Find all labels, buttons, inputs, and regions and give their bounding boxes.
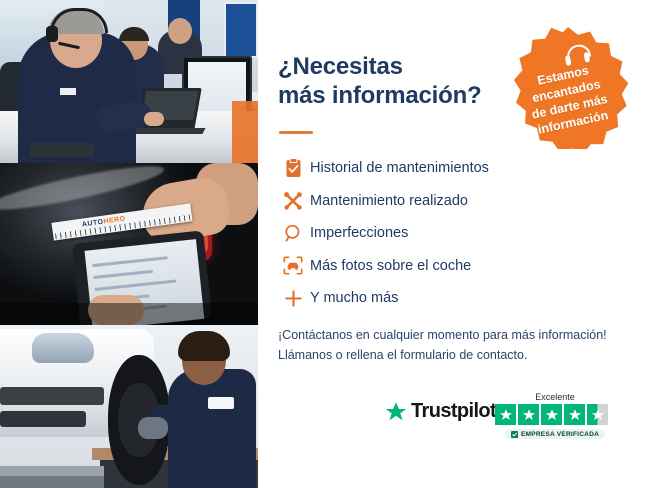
promo-card: AUTOHERO bbox=[0, 0, 650, 488]
car-scan-icon bbox=[276, 254, 310, 278]
title-divider bbox=[279, 131, 313, 134]
car-lift-base bbox=[0, 476, 104, 488]
car-grille-upper bbox=[0, 387, 104, 405]
verified-check-icon bbox=[511, 431, 518, 438]
headset-earcup-icon bbox=[46, 26, 58, 42]
page-title: ¿Necesitas más información? bbox=[278, 52, 508, 111]
tools-cross-icon bbox=[276, 189, 310, 213]
mechanic-hair bbox=[178, 331, 230, 361]
magnifier-icon bbox=[276, 221, 310, 245]
orange-chair bbox=[232, 101, 258, 163]
contact-line2: Llámanos o rellena el formulario de cont… bbox=[278, 345, 628, 365]
feature-label: Historial de mantenimientos bbox=[310, 160, 489, 176]
name-badge bbox=[60, 88, 76, 95]
contact-line1: ¡Contáctanos en cualquier momento para m… bbox=[278, 325, 628, 345]
page-title-line1: ¿Necesitas bbox=[278, 52, 508, 81]
car-headlight bbox=[32, 333, 94, 363]
clipboard-check-icon bbox=[276, 156, 310, 180]
feature-list: Historial de mantenimientos M bbox=[276, 152, 606, 315]
plus-icon bbox=[276, 286, 310, 310]
trustpilot-wordmark: Trustpilot bbox=[411, 400, 496, 423]
wall-poster-blue bbox=[224, 2, 258, 58]
contact-text: ¡Contáctanos en cualquier momento para m… bbox=[278, 325, 628, 366]
agent-hand bbox=[144, 112, 164, 126]
feature-label: Mantenimiento realizado bbox=[310, 193, 468, 209]
car-grille-lower bbox=[0, 411, 86, 427]
photo-column: AUTOHERO bbox=[0, 0, 258, 488]
feature-label: Y mucho más bbox=[310, 290, 398, 306]
agent-back-head bbox=[168, 18, 192, 44]
photo-shadow bbox=[0, 303, 258, 325]
mechanic-wheel-inspection-photo bbox=[0, 325, 258, 488]
verified-company-badge: EMPRESA VERIFICADA bbox=[505, 429, 605, 439]
rating-label: Excelente bbox=[495, 392, 615, 402]
feature-item-fotos: Más fotos sobre el coche bbox=[276, 250, 606, 283]
trustpilot-logo: Trustpilot bbox=[385, 400, 496, 423]
star-rating bbox=[495, 404, 615, 425]
uniform-logo-patch bbox=[208, 397, 234, 409]
trustpilot-widget[interactable]: Trustpilot Excelente bbox=[385, 392, 625, 450]
star-3 bbox=[541, 404, 562, 425]
feature-item-historial: Historial de mantenimientos bbox=[276, 152, 606, 185]
feature-label: Imperfecciones bbox=[310, 225, 408, 241]
trustpilot-rating: Excelente bbox=[495, 392, 615, 439]
feature-label: Más fotos sobre el coche bbox=[310, 258, 471, 274]
support-badge: Estamos encantados de darte más informac… bbox=[507, 27, 629, 149]
feature-item-mantenimiento: Mantenimiento realizado bbox=[276, 185, 606, 218]
mechanic-glove bbox=[138, 417, 168, 439]
call-center-agents-photo bbox=[0, 0, 258, 163]
badge-text: Estamos encantados de darte más informac… bbox=[502, 55, 635, 143]
star-5-half bbox=[587, 404, 608, 425]
star-1 bbox=[495, 404, 516, 425]
car-inspection-ruler-photo: AUTOHERO bbox=[0, 163, 258, 325]
laptop-base bbox=[130, 128, 205, 134]
page-title-line2: más información? bbox=[278, 81, 508, 110]
verified-label: EMPRESA VERIFICADA bbox=[521, 431, 599, 438]
star-2 bbox=[518, 404, 539, 425]
keyboard bbox=[30, 143, 94, 157]
trustpilot-star-icon bbox=[385, 401, 407, 423]
star-4 bbox=[564, 404, 585, 425]
feature-item-mucho-mas: Y mucho más bbox=[276, 282, 606, 315]
feature-item-imperfecciones: Imperfecciones bbox=[276, 217, 606, 250]
